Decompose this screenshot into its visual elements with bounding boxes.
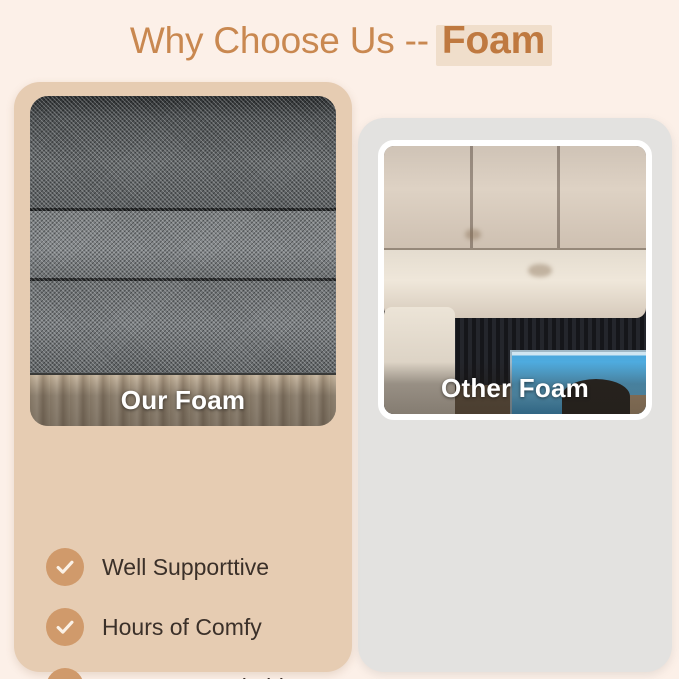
feature-row: Hours of Comfy [46, 597, 346, 657]
other-cushion-stain [528, 264, 552, 277]
feature-label: 5-Year-No-Subsidence [102, 676, 334, 679]
ours-caption: Our Foam [30, 374, 336, 426]
other-backrest-cushions [384, 146, 646, 253]
comparison-card-other: Other Foam Very Hard Get Uneven Soon [358, 118, 672, 672]
check-circle-icon [46, 668, 84, 679]
page-title-highlight: Foam [438, 19, 549, 63]
feature-label: Well Supporttive [102, 556, 269, 579]
other-cushion-seam [557, 146, 560, 253]
other-cushion-stain [465, 229, 481, 240]
check-circle-icon [46, 608, 84, 646]
ours-mesh-texture [30, 96, 336, 377]
feature-row: Well Supporttive [46, 537, 346, 597]
page-title: Why Choose Us -- Foam [0, 0, 679, 82]
check-circle-icon [46, 548, 84, 586]
feature-label: Hours of Comfy [102, 616, 262, 639]
comparison-card-ours: Our Foam Well Supporttive Hours of Comfy [14, 82, 352, 672]
ours-feature-list: Well Supporttive Hours of Comfy 5-Year-N… [46, 537, 346, 679]
page-title-prefix: Why Choose Us -- [130, 20, 429, 62]
other-caption: Other Foam [384, 362, 646, 414]
other-photo: Other Foam [378, 140, 652, 420]
feature-row: 5-Year-No-Subsidence [46, 657, 346, 679]
ours-photo: Our Foam [30, 96, 336, 426]
